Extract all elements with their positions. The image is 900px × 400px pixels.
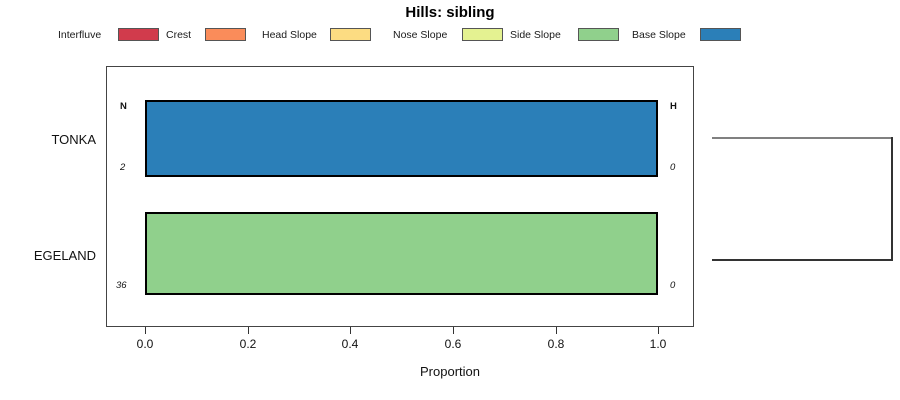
legend-swatch-icon: [118, 28, 159, 41]
row-label-tonka: TONKA: [0, 132, 96, 147]
legend-swatch-icon: [205, 28, 246, 41]
legend-label: Interfluve: [58, 26, 101, 44]
chart-root: Hills: sibling InterfluveCrestHead Slope…: [0, 0, 900, 400]
legend-label: Base Slope: [632, 26, 686, 44]
legend-item-crest[interactable]: Crest: [166, 26, 197, 44]
legend-item-nose-slope[interactable]: Nose Slope: [393, 26, 453, 44]
legend-swatch-icon: [462, 28, 503, 41]
x-axis-tick: [248, 327, 249, 334]
bar-tonka[interactable]: [145, 100, 658, 177]
x-axis-tick: [145, 327, 146, 334]
x-axis-title: Proportion: [0, 364, 900, 379]
bar-egeland[interactable]: [145, 212, 658, 295]
x-axis-tick-label: 1.0: [650, 337, 667, 351]
dendrogram-bottom-branch: [712, 259, 893, 261]
legend-swatch-icon: [330, 28, 371, 41]
legend-label: Side Slope: [510, 26, 561, 44]
legend-item-interfluve[interactable]: Interfluve: [58, 26, 107, 44]
x-axis-tick: [658, 327, 659, 334]
legend-item-side-slope[interactable]: Side Slope: [510, 26, 567, 44]
legend-label: Crest: [166, 26, 191, 44]
legend-swatch-icon: [578, 28, 619, 41]
legend-swatch-icon: [700, 28, 741, 41]
x-axis-tick-label: 0.2: [240, 337, 257, 351]
x-axis-tick-label: 0.0: [137, 337, 154, 351]
bar-note-egeland-bottom-right: 0: [670, 280, 675, 291]
dendrogram-joiner: [891, 137, 893, 260]
legend-item-base-slope[interactable]: Base Slope: [632, 26, 692, 44]
row-label-egeland: EGELAND: [0, 248, 96, 263]
bar-note-tonka-bottom-right: 0: [670, 162, 675, 173]
bar-note-tonka-top-left: N: [120, 101, 127, 112]
x-axis-tick-label: 0.8: [548, 337, 565, 351]
legend-label: Head Slope: [262, 26, 317, 44]
legend-item-head-slope[interactable]: Head Slope: [262, 26, 323, 44]
legend: InterfluveCrestHead SlopeNose SlopeSide …: [0, 26, 900, 44]
page-title: Hills: sibling: [0, 4, 900, 21]
dendrogram-top-branch: [712, 137, 893, 139]
bar-note-tonka-bottom-left: 2: [120, 162, 125, 173]
legend-label: Nose Slope: [393, 26, 447, 44]
x-axis-tick: [350, 327, 351, 334]
x-axis-tick: [556, 327, 557, 334]
x-axis-tick-label: 0.4: [342, 337, 359, 351]
bar-note-tonka-top-right: H: [670, 101, 677, 112]
x-axis-tick-label: 0.6: [445, 337, 462, 351]
bar-note-egeland-bottom-left: 36: [116, 280, 127, 291]
x-axis-tick: [453, 327, 454, 334]
